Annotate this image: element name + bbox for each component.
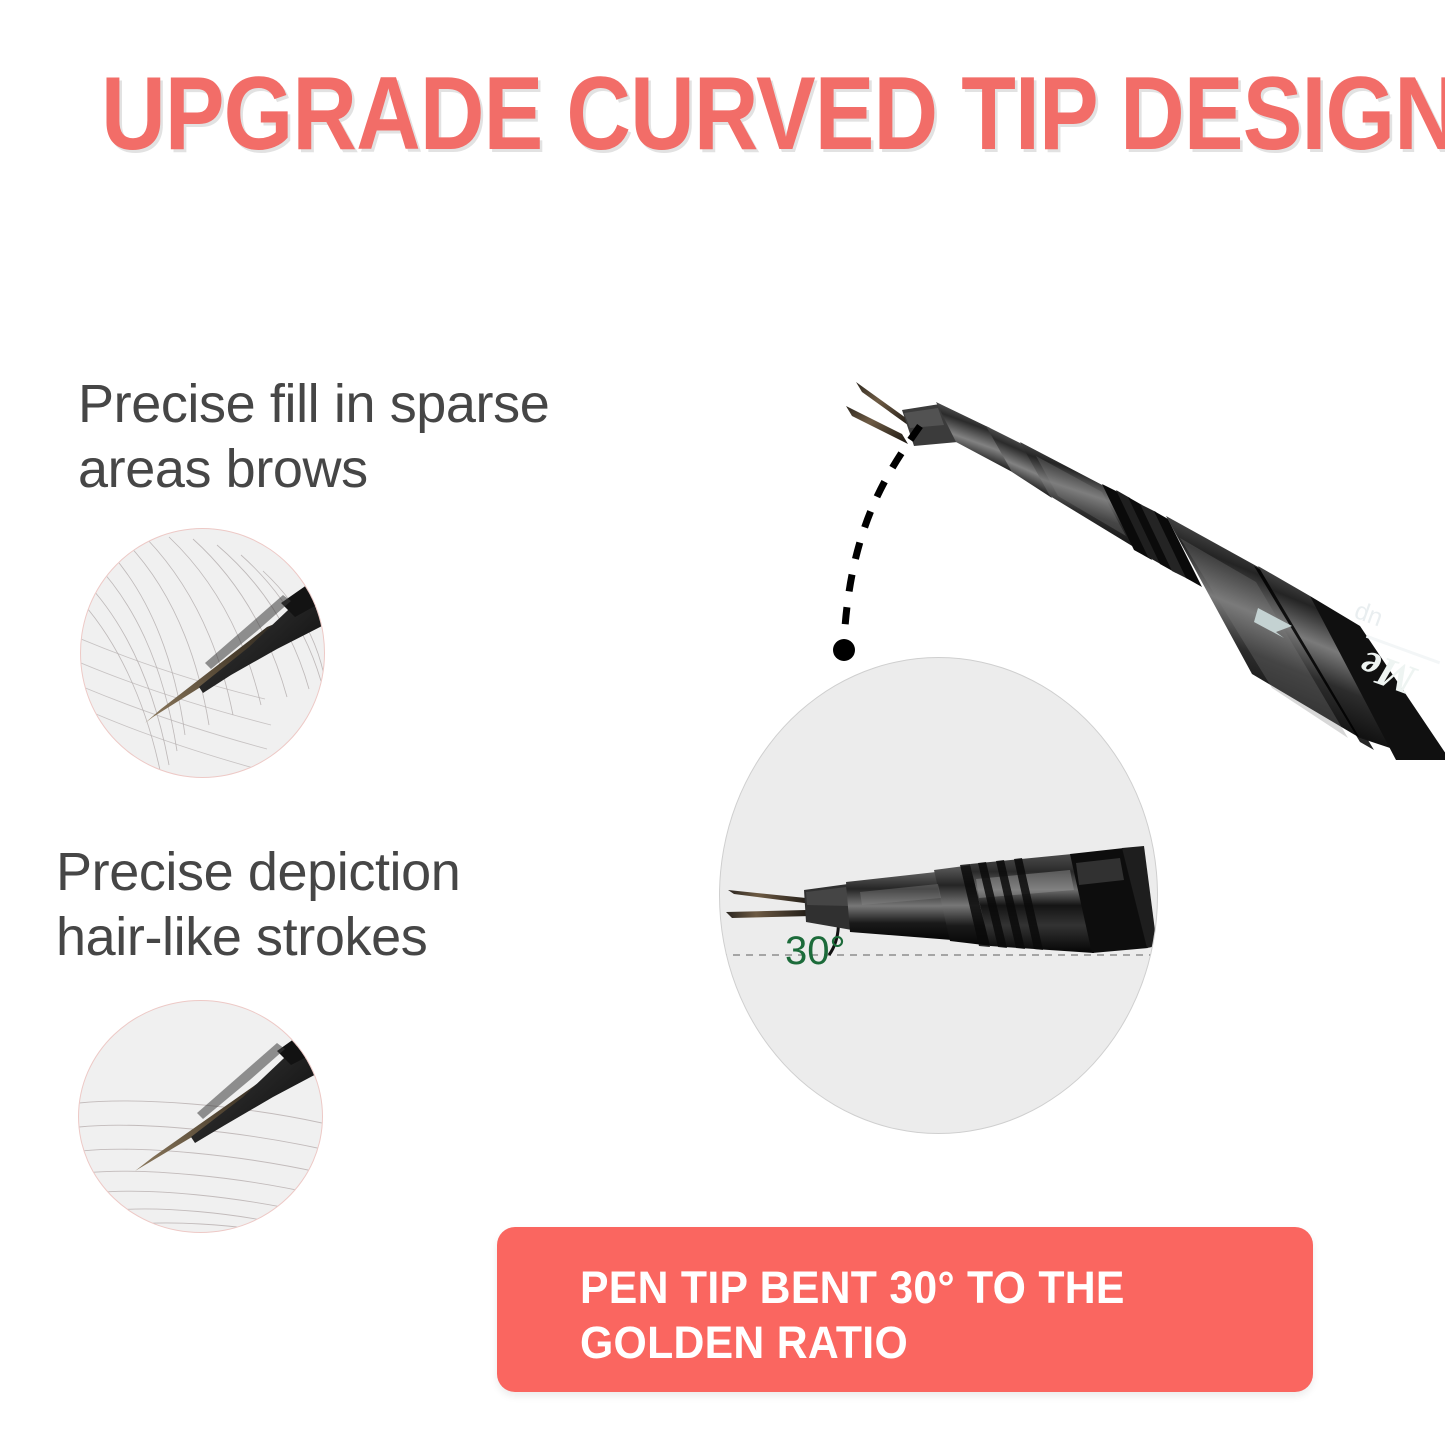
feature-label-hair-like-strokes: Precise depiction hair-like strokes (56, 840, 616, 970)
feature-line-1: Precise depiction (56, 840, 616, 905)
feature-line-2: hair-like strokes (56, 905, 616, 970)
feature-line-1: Precise fill in sparse (78, 372, 678, 437)
curved-hairs-icon (81, 529, 324, 777)
banner-line-2: GOLDEN RATIO (580, 1316, 1245, 1371)
page-title: UPGRADE CURVED TIP DESIGN (101, 62, 1344, 166)
product-infographic: UPGRADE CURVED TIP DESIGN Precise fill i… (0, 0, 1445, 1445)
detail-circle-hair-like-strokes (78, 1000, 323, 1233)
banner-text: PEN TIP BENT 30° TO THE GOLDEN RATIO (580, 1261, 1245, 1371)
callout-banner: PEN TIP BENT 30° TO THE GOLDEN RATIO (497, 1227, 1313, 1392)
callout-dot (833, 639, 855, 661)
feature-label-sparse-brows: Precise fill in sparse areas brows (78, 372, 678, 502)
straight-hairs-icon (79, 1001, 322, 1232)
banner-line-1: PEN TIP BENT 30° TO THE (580, 1261, 1245, 1316)
callout-connector (800, 420, 970, 680)
feature-line-2: areas brows (78, 437, 678, 502)
angle-label-30-degrees: 30° (785, 931, 846, 971)
detail-circle-sparse-brows (80, 528, 325, 778)
dashed-curve-icon (800, 420, 970, 680)
